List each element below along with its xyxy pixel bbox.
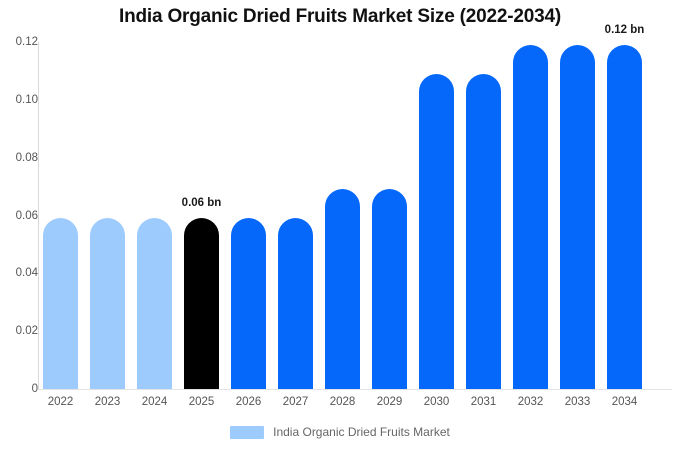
- x-axis-tick-label: 2030: [424, 396, 450, 408]
- x-axis-tick-label: 2022: [48, 396, 74, 408]
- x-axis-tick-label: 2028: [330, 396, 356, 408]
- bar-2023[interactable]: [90, 218, 125, 389]
- bar-chart: India Organic Dried Fruits Market Size (…: [0, 0, 680, 450]
- x-axis-tick-label: 2029: [377, 396, 403, 408]
- bar-2033[interactable]: [560, 45, 595, 389]
- y-axis-tick-label: 0: [4, 383, 38, 395]
- bar-2030[interactable]: [419, 74, 454, 389]
- bar-2034[interactable]: [607, 45, 642, 389]
- x-axis-tick-label: 2033: [565, 396, 591, 408]
- y-axis-tick-label: 0.06: [4, 210, 38, 222]
- x-axis-tick-label: 2023: [95, 396, 121, 408]
- bar-2024[interactable]: [137, 218, 172, 389]
- x-axis-tick-label: 2032: [518, 396, 544, 408]
- y-axis-tick-label: 0.10: [4, 94, 38, 106]
- y-axis: 00.020.040.060.080.100.12: [0, 0, 38, 450]
- y-axis-tick-label: 0.08: [4, 152, 38, 164]
- bar-2031[interactable]: [466, 74, 501, 389]
- chart-legend: India Organic Dried Fruits Market: [0, 425, 680, 439]
- y-axis-tick-label: 0.12: [4, 36, 38, 48]
- bar-2028[interactable]: [325, 189, 360, 389]
- legend-label: India Organic Dried Fruits Market: [273, 425, 450, 439]
- bar-2026[interactable]: [231, 218, 266, 389]
- bar-2029[interactable]: [372, 189, 407, 389]
- x-axis-tick-label: 2026: [236, 396, 262, 408]
- y-axis-tick-label: 0.04: [4, 267, 38, 279]
- x-axis-tick-label: 2024: [142, 396, 168, 408]
- x-axis-tick-label: 2031: [471, 396, 497, 408]
- data-label-2025: 0.06 bn: [182, 197, 222, 209]
- x-axis-line: [38, 389, 672, 390]
- x-axis-tick-label: 2034: [612, 396, 638, 408]
- chart-title: India Organic Dried Fruits Market Size (…: [0, 6, 680, 28]
- legend-swatch-icon: [230, 426, 264, 439]
- bar-2032[interactable]: [513, 45, 548, 389]
- x-axis-tick-label: 2027: [283, 396, 309, 408]
- x-axis-tick-label: 2025: [189, 396, 215, 408]
- data-label-2034: 0.12 bn: [605, 24, 645, 36]
- bar-2027[interactable]: [278, 218, 313, 389]
- bar-2022[interactable]: [43, 218, 78, 389]
- y-axis-tick-label: 0.02: [4, 325, 38, 337]
- bar-2025[interactable]: [184, 218, 219, 389]
- plot-area: [38, 42, 672, 389]
